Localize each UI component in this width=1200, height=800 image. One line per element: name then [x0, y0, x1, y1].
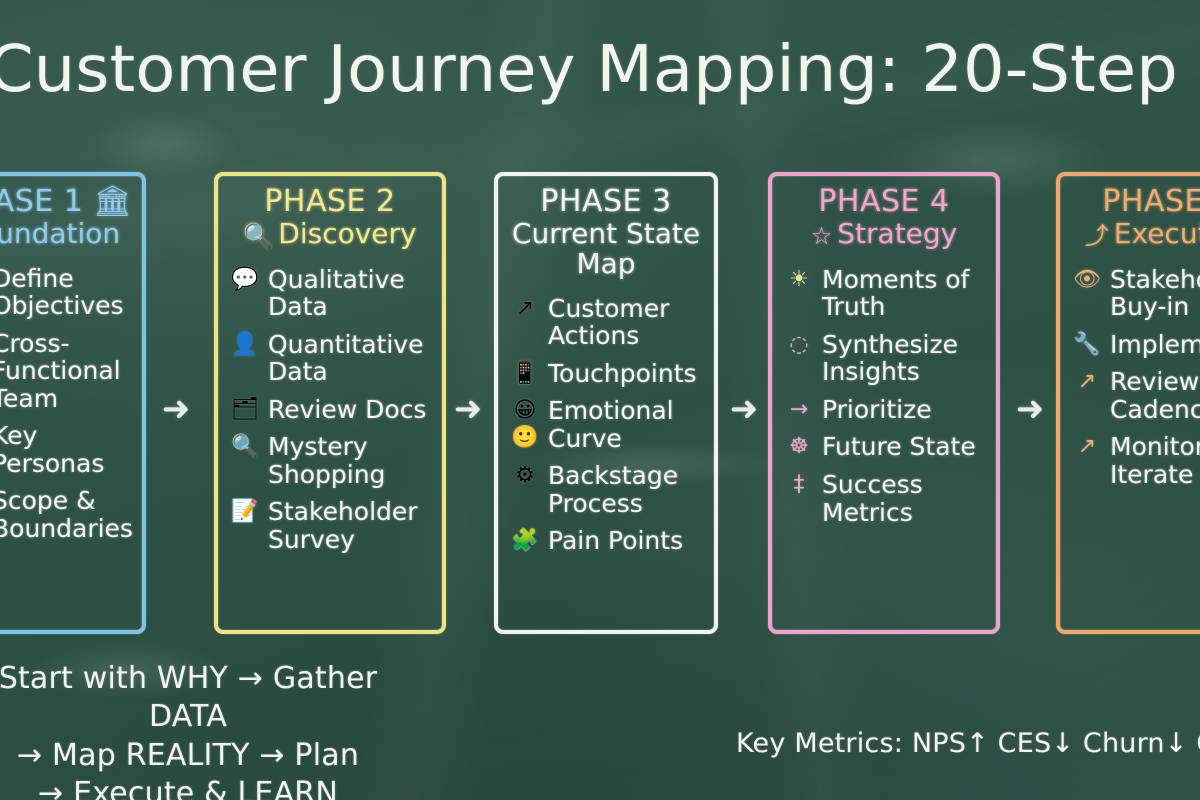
- list-item[interactable]: ☀ Moments of Truth: [780, 266, 988, 321]
- list-item[interactable]: 👥 Cross-Functional Team: [0, 330, 134, 413]
- survey-icon: 📝: [230, 499, 260, 526]
- list-item[interactable]: ↗ Review Cadence: [1068, 368, 1200, 423]
- phase-4-subtitle-text: Strategy: [837, 217, 957, 250]
- list-item[interactable]: 👁 Stakeholder Buy-in: [1068, 266, 1200, 321]
- list-item-label: Synthesize Insights: [822, 331, 988, 386]
- bank-icon: 🏛: [93, 184, 132, 219]
- list-item-label: Monitor & Iterate: [1110, 433, 1200, 488]
- list-item-label: Emotional Curve: [548, 397, 706, 452]
- phase-1-items: ✔ Define Objectives 👥 Cross-Functional T…: [0, 265, 134, 543]
- list-item-label: Implement: [1110, 331, 1200, 359]
- list-item-label: Review Docs: [268, 396, 426, 424]
- list-item[interactable]: 📝 Stakeholder Survey: [226, 498, 434, 553]
- flow-line-1: Start with WHY → Gather DATA: [0, 660, 398, 737]
- list-item[interactable]: ☸ Future State: [780, 433, 988, 461]
- arrow-up-right-icon: ↗: [1072, 434, 1102, 461]
- phase-card-4[interactable]: PHASE 4 ☆Strategy ☀ Moments of Truth ◌ S…: [768, 172, 1000, 634]
- list-item-label: Backstage Process: [548, 462, 706, 517]
- list-item[interactable]: 📱 Touchpoints: [506, 360, 706, 388]
- list-item[interactable]: 😀🙂 Emotional Curve: [506, 397, 706, 452]
- phase-4-items: ☀ Moments of Truth ◌ Synthesize Insights…: [780, 266, 988, 527]
- phase-2-subtitle: 🔍Discovery: [226, 219, 434, 249]
- list-item[interactable]: 🔧 Implement: [1068, 331, 1200, 359]
- phase-5-subtitle-text: Execution: [1114, 217, 1200, 250]
- list-item-label: Stakeholder Survey: [268, 498, 434, 553]
- flow-line-2: → Map REALITY → Plan: [0, 737, 398, 775]
- phase-4-title: PHASE 4: [780, 186, 988, 217]
- key-metrics: Key Metrics: NPS↑ CES↓ Churn↓ Conversion…: [736, 728, 1200, 760]
- phase-2-subtitle-text: Discovery: [278, 217, 416, 250]
- list-item-label: Success Metrics: [822, 471, 988, 526]
- circle-heart-icon: ◌: [784, 332, 814, 359]
- list-item-label: Future State: [822, 433, 976, 461]
- sparkle-icon: ☀: [784, 267, 814, 294]
- gear-icon: ⚙: [510, 463, 540, 490]
- page-title: Customer Journey Mapping: 20-Step Checkl…: [0, 38, 1200, 102]
- list-item-label: Moments of Truth: [822, 266, 988, 321]
- list-item[interactable]: 🔍 Mystery Shopping: [226, 433, 434, 488]
- phase-card-5[interactable]: PHASE 5 ⤴Execution 👁 Stakeholder Buy-in …: [1056, 172, 1200, 634]
- list-item[interactable]: ↗ Customer Actions: [506, 295, 706, 350]
- list-item[interactable]: ⚙ Backstage Process: [506, 462, 706, 517]
- list-item-label: Scope & Boundaries: [0, 487, 134, 542]
- phase-1-title: PHASE 1 🏛: [0, 186, 134, 217]
- flow-line-3-text: → Execute & LEARN: [38, 776, 338, 800]
- magnifier-icon: 🔍: [230, 434, 260, 461]
- list-item[interactable]: ◌ Synthesize Insights: [780, 331, 988, 386]
- list-item[interactable]: 💬 Qualitative Data: [226, 266, 434, 321]
- list-item[interactable]: 📏 Scope & Boundaries: [0, 487, 134, 542]
- phase-3-subtitle: Current State Map: [506, 219, 706, 278]
- smiley-faces-icon: 😀🙂: [510, 398, 540, 452]
- dagger-icon: ‡: [784, 472, 814, 499]
- file-cabinet-icon: 🗂: [230, 397, 260, 424]
- list-item[interactable]: ‡ Success Metrics: [780, 471, 988, 526]
- flow-arrow-1-to-2: ➜: [154, 392, 198, 426]
- list-item-label: Quantitative Data: [268, 331, 434, 386]
- chalk-smudge: [90, 110, 240, 180]
- list-item[interactable]: ↗ Monitor & Iterate: [1068, 433, 1200, 488]
- list-item[interactable]: 👤 Quantitative Data: [226, 331, 434, 386]
- list-item-label: Key Personas: [0, 422, 134, 477]
- list-item[interactable]: ✔ Define Objectives: [0, 265, 134, 320]
- phase-5-subtitle: ⤴Execution: [1068, 219, 1200, 249]
- arrow-up-right-icon: ↗: [510, 296, 540, 323]
- list-item-label: Touchpoints: [548, 360, 697, 388]
- phase-5-title: PHASE 5: [1068, 186, 1200, 217]
- phase-1-title-text: PHASE 1: [0, 184, 83, 219]
- arrow-up-right-icon: ↗: [1072, 369, 1102, 396]
- compass-icon: ☸: [784, 434, 814, 461]
- phase-1-subtitle: Foundation: [0, 219, 134, 249]
- phase-5-items: 👁 Stakeholder Buy-in 🔧 Implement ↗ Revie…: [1068, 266, 1200, 489]
- search-icon: 🔍: [243, 224, 273, 249]
- arrow-right-icon: →: [784, 397, 814, 424]
- summary-flow: Start with WHY → Gather DATA → Map REALI…: [0, 660, 398, 800]
- phase-2-items: 💬 Qualitative Data 👤 Quantitative Data 🗂…: [226, 266, 434, 554]
- flow-arrow-2-to-3: ➜: [446, 392, 490, 426]
- phase-card-1[interactable]: PHASE 1 🏛 Foundation ✔ Define Objectives…: [0, 172, 146, 634]
- list-item-label: Define Objectives: [0, 265, 134, 320]
- list-item-label: Mystery Shopping: [268, 433, 434, 488]
- star-icon: ☆: [811, 224, 833, 249]
- list-item-label: Cross-Functional Team: [0, 330, 134, 413]
- list-item[interactable]: 🧩 Pain Points: [506, 527, 706, 555]
- list-item[interactable]: → Prioritize: [780, 396, 988, 424]
- list-item[interactable]: 👤 Key Personas: [0, 422, 134, 477]
- curved-arrow-icon: ⤴: [1085, 224, 1109, 249]
- list-item-label: Prioritize: [822, 396, 932, 424]
- speech-bubble-icon: 💬: [230, 267, 260, 294]
- list-item-label: Pain Points: [548, 527, 683, 555]
- wrench-icon: 🔧: [1072, 332, 1102, 359]
- list-item-label: Stakeholder Buy-in: [1110, 266, 1200, 321]
- person-chart-icon: 👤: [230, 332, 260, 359]
- phase-2-title: PHASE 2: [226, 186, 434, 217]
- flow-arrow-3-to-4: ➜: [722, 392, 766, 426]
- list-item[interactable]: 🗂 Review Docs: [226, 396, 434, 424]
- puzzle-icon: 🧩: [510, 528, 540, 555]
- list-item-label: Qualitative Data: [268, 266, 434, 321]
- list-item-label: Review Cadence: [1110, 368, 1200, 423]
- phase-card-2[interactable]: PHASE 2 🔍Discovery 💬 Qualitative Data 👤 …: [214, 172, 446, 634]
- list-item-label: Customer Actions: [548, 295, 706, 350]
- device-icon: 📱: [510, 361, 540, 388]
- phase-4-subtitle: ☆Strategy: [780, 219, 988, 249]
- phase-3-items: ↗ Customer Actions 📱 Touchpoints 😀🙂 Emot…: [506, 295, 706, 556]
- phase-card-3[interactable]: PHASE 3 Current State Map ↗ Customer Act…: [494, 172, 718, 634]
- eye-icon: 👁: [1072, 267, 1102, 294]
- phase-3-title: PHASE 3: [506, 186, 706, 217]
- flow-line-3: → Execute & LEARN: [0, 775, 398, 800]
- flow-arrow-4-to-5: ➜: [1008, 392, 1052, 426]
